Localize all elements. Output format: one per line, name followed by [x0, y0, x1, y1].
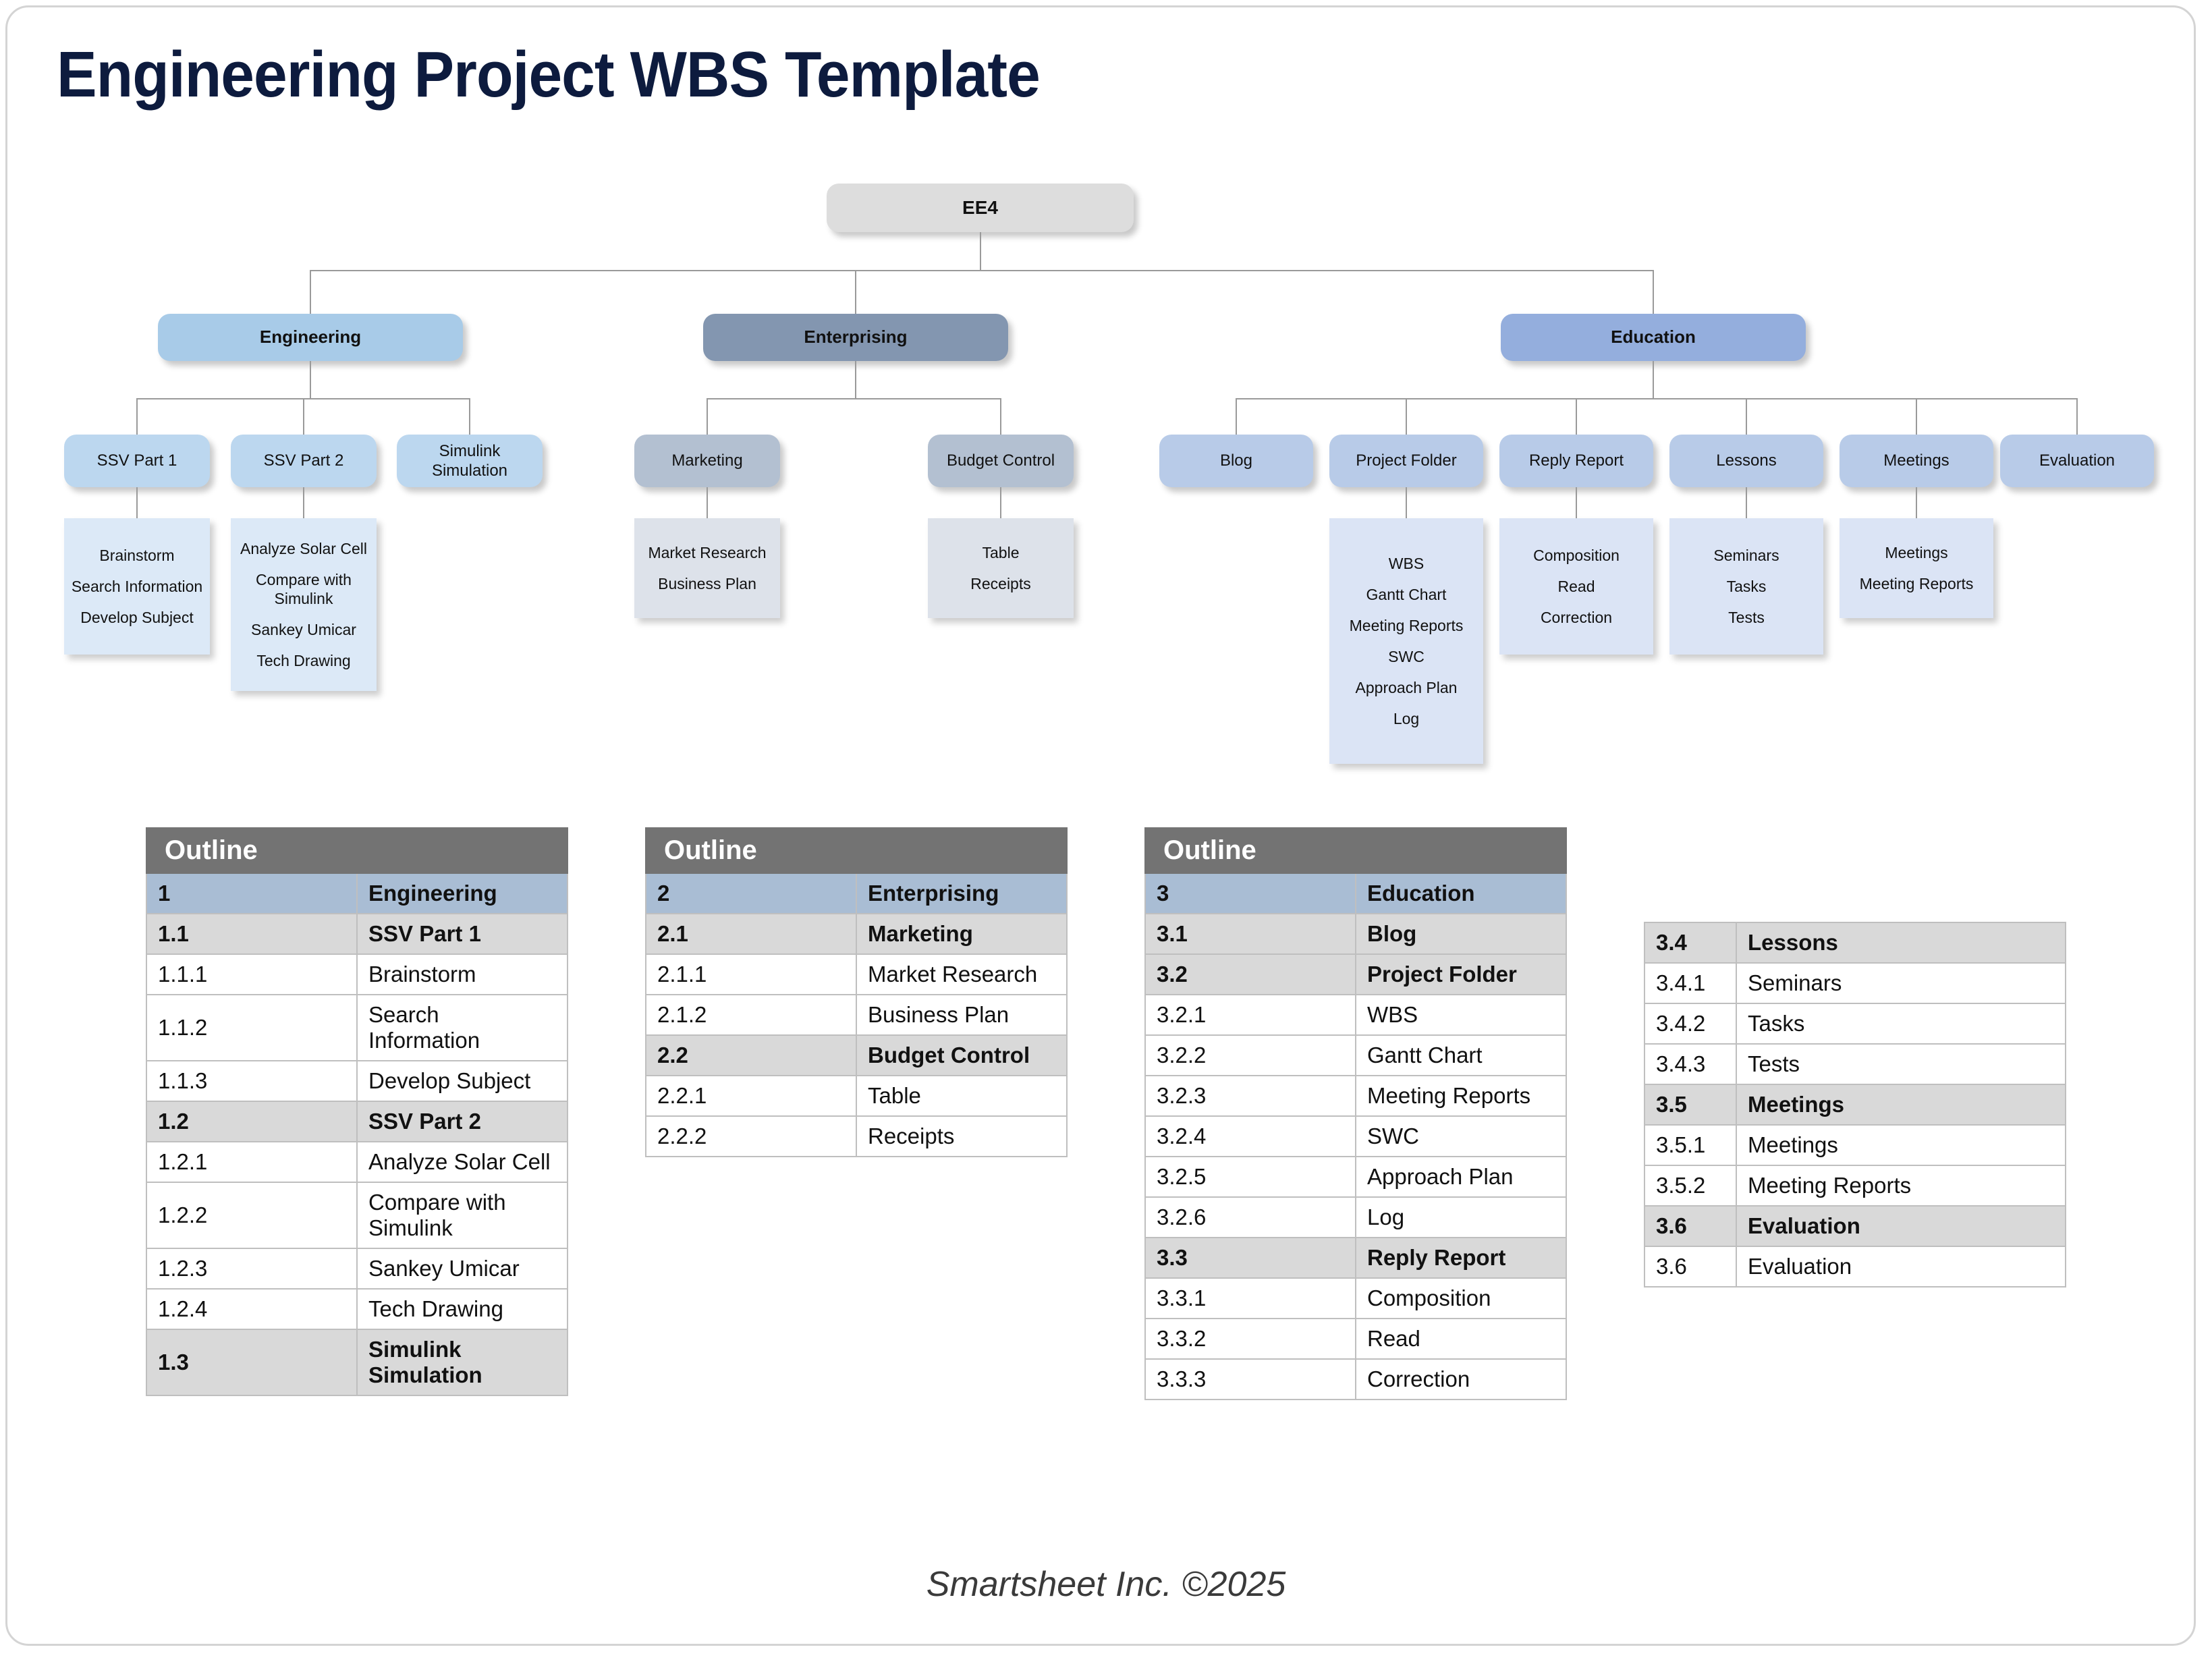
connector-line: [136, 398, 138, 435]
row-number: 2.1.2: [646, 995, 856, 1035]
outline-table-1: Outline1Engineering1.1SSV Part 11.1.1Bra…: [146, 827, 568, 1396]
row-number: 3: [1145, 873, 1356, 914]
node-branch-engineering[interactable]: Engineering: [158, 314, 463, 361]
row-label: Seminars: [1736, 963, 2066, 1003]
row-number: 2.2.1: [646, 1076, 856, 1116]
table-row[interactable]: 1.2.1Analyze Solar Cell: [146, 1142, 568, 1182]
node-root-ee4[interactable]: EE4: [827, 184, 1134, 232]
row-label: Education: [1356, 873, 1566, 914]
row-number: 1.1.1: [146, 954, 357, 995]
row-label: WBS: [1356, 995, 1566, 1035]
row-label: Sankey Umicar: [357, 1248, 568, 1289]
node-label: Education: [1611, 327, 1696, 348]
row-number: 3.5: [1644, 1084, 1736, 1125]
row-number: 1: [146, 873, 357, 914]
connector-line: [1576, 398, 1577, 435]
row-label: Blog: [1356, 914, 1566, 954]
row-number: 1.2.3: [146, 1248, 357, 1289]
leaf-item: Meetings: [1844, 543, 1989, 562]
node-eng-ssv-part-2[interactable]: SSV Part 2: [231, 435, 377, 487]
table-row[interactable]: 3.4Lessons: [1644, 922, 2066, 963]
table-row[interactable]: 3.2.1WBS: [1145, 995, 1566, 1035]
row-number: 2.1: [646, 914, 856, 954]
leaf-item: Market Research: [638, 543, 776, 562]
connector-line: [310, 270, 1654, 271]
row-number: 3.5.1: [1644, 1125, 1736, 1165]
leaf-item: Meeting Reports: [1844, 574, 1989, 593]
table-row[interactable]: 2.2.2Receipts: [646, 1116, 1067, 1157]
table-row[interactable]: 3.6Evaluation: [1644, 1246, 2066, 1287]
table-row[interactable]: 3.2.2Gantt Chart: [1145, 1035, 1566, 1076]
leaf-item: Sankey Umicar: [235, 620, 372, 639]
node-label: Lessons: [1716, 451, 1776, 470]
table-row[interactable]: 3Education: [1145, 873, 1566, 914]
leaf-item: Business Plan: [638, 574, 776, 593]
table-row[interactable]: 3.4.2Tasks: [1644, 1003, 2066, 1044]
row-label: Approach Plan: [1356, 1157, 1566, 1197]
row-label: Tasks: [1736, 1003, 2066, 1044]
row-label: Lessons: [1736, 922, 2066, 963]
table-row[interactable]: 2.1.2Business Plan: [646, 995, 1067, 1035]
table-row[interactable]: 1.1.3Develop Subject: [146, 1061, 568, 1101]
table-row[interactable]: 2.2.1Table: [646, 1076, 1067, 1116]
row-label: Log: [1356, 1197, 1566, 1238]
table-row[interactable]: 1.2.2Compare with Simulink: [146, 1182, 568, 1248]
leafbox-reply-report[interactable]: CompositionReadCorrection: [1499, 518, 1653, 655]
leaf-item: Receipts: [932, 574, 1070, 593]
connector-line: [310, 361, 311, 398]
table-row[interactable]: 3.5.2Meeting Reports: [1644, 1165, 2066, 1206]
row-number: 3.4.1: [1644, 963, 1736, 1003]
row-number: 1.3: [146, 1329, 357, 1395]
node-label: Blog: [1220, 451, 1252, 470]
table-row[interactable]: 1.1.2Search Information: [146, 995, 568, 1061]
node-label: SSV Part 2: [264, 451, 344, 470]
leaf-item: Search Information: [68, 577, 206, 596]
row-label: Budget Control: [856, 1035, 1067, 1076]
row-number: 3.6: [1644, 1246, 1736, 1287]
node-ent-marketing[interactable]: Marketing: [634, 435, 780, 487]
row-number: 1.1.2: [146, 995, 357, 1061]
table-row[interactable]: 1.2SSV Part 2: [146, 1101, 568, 1142]
node-edu-meetings[interactable]: Meetings: [1840, 435, 1993, 487]
leaf-item: Log: [1333, 709, 1479, 728]
node-edu-blog[interactable]: Blog: [1159, 435, 1313, 487]
row-number: 3.3.2: [1145, 1319, 1356, 1359]
outline-table-3: Outline3Education3.1Blog3.2Project Folde…: [1144, 827, 1567, 1400]
connector-line: [855, 361, 856, 398]
node-label: Reply Report: [1529, 451, 1624, 470]
footer-copyright: Smartsheet Inc. ©2025: [0, 1564, 2212, 1605]
row-label: Develop Subject: [357, 1061, 568, 1101]
leaf-item: Tasks: [1674, 577, 1819, 596]
node-label: EE4: [962, 196, 998, 219]
row-label: Composition: [1356, 1278, 1566, 1319]
node-ent-budget-control[interactable]: Budget Control: [928, 435, 1074, 487]
table-row[interactable]: 1.2.4Tech Drawing: [146, 1289, 568, 1329]
node-branch-enterprising[interactable]: Enterprising: [703, 314, 1008, 361]
row-label: Search Information: [357, 995, 568, 1061]
row-label: Meetings: [1736, 1125, 2066, 1165]
outline-table-4: 3.4Lessons3.4.1Seminars3.4.2Tasks3.4.3Te…: [1644, 922, 2066, 1287]
row-number: 3.4.2: [1644, 1003, 1736, 1044]
connector-line: [136, 487, 138, 518]
node-edu-project-folder[interactable]: Project Folder: [1329, 435, 1483, 487]
leaf-item: Gantt Chart: [1333, 585, 1479, 604]
row-number: 1.2.2: [146, 1182, 357, 1248]
table-row[interactable]: 1.2.3Sankey Umicar: [146, 1248, 568, 1289]
outline-table-header: Outline: [646, 828, 1067, 873]
row-number: 3.4.3: [1644, 1044, 1736, 1084]
row-number: 1.2: [146, 1101, 357, 1142]
outline-table-header: Outline: [146, 828, 568, 873]
node-edu-lessons[interactable]: Lessons: [1669, 435, 1823, 487]
leaf-item: Meeting Reports: [1333, 616, 1479, 635]
connector-line: [1653, 270, 1654, 314]
leaf-item: Seminars: [1674, 546, 1819, 565]
row-number: 3.6: [1644, 1206, 1736, 1246]
leaf-item: Read: [1503, 577, 1649, 596]
table-row[interactable]: 3.5.1Meetings: [1644, 1125, 2066, 1165]
row-label: Meetings: [1736, 1084, 2066, 1125]
leafbox-meetings[interactable]: MeetingsMeeting Reports: [1840, 518, 1993, 618]
table-row[interactable]: 1Engineering: [146, 873, 568, 914]
table-row[interactable]: 3.4.3Tests: [1644, 1044, 2066, 1084]
connector-line: [1916, 487, 1917, 518]
leaf-item: Develop Subject: [68, 608, 206, 627]
row-number: 3.2.3: [1145, 1076, 1356, 1116]
connector-line: [707, 398, 1001, 399]
row-number: 3.2: [1145, 954, 1356, 995]
row-number: 1.1: [146, 914, 357, 954]
row-number: 3.2.2: [1145, 1035, 1356, 1076]
row-label: SWC: [1356, 1116, 1566, 1157]
connector-line: [469, 398, 470, 435]
connector-line: [707, 487, 708, 518]
row-label: Reply Report: [1356, 1238, 1566, 1278]
node-label: Project Folder: [1356, 451, 1456, 470]
table-row[interactable]: 2.1Marketing: [646, 914, 1067, 954]
table-row[interactable]: 2Enterprising: [646, 873, 1067, 914]
row-number: 1.2.1: [146, 1142, 357, 1182]
row-label: Tech Drawing: [357, 1289, 568, 1329]
leaf-item: WBS: [1333, 554, 1479, 573]
row-label: Read: [1356, 1319, 1566, 1359]
connector-line: [1000, 398, 1001, 435]
row-number: 3.3: [1145, 1238, 1356, 1278]
row-number: 3.5.2: [1644, 1165, 1736, 1206]
leafbox-lessons[interactable]: SeminarsTasksTests: [1669, 518, 1823, 655]
connector-line: [707, 398, 708, 435]
connector-line: [1746, 487, 1747, 518]
table-row[interactable]: 3.3.1Composition: [1145, 1278, 1566, 1319]
table-row[interactable]: 3.6Evaluation: [1644, 1206, 2066, 1246]
row-label: Meeting Reports: [1736, 1165, 2066, 1206]
row-number: 3.2.4: [1145, 1116, 1356, 1157]
row-number: 2: [646, 873, 856, 914]
table-row[interactable]: 3.5Meetings: [1644, 1084, 2066, 1125]
connector-line: [1406, 398, 1407, 435]
row-label: Project Folder: [1356, 954, 1566, 995]
row-label: Market Research: [856, 954, 1067, 995]
node-eng-simulink-simulation[interactable]: Simulink Simulation: [397, 435, 543, 487]
leafbox-ssv-part-2[interactable]: Analyze Solar CellCompare with SimulinkS…: [231, 518, 377, 691]
node-edu-reply-report[interactable]: Reply Report: [1499, 435, 1653, 487]
connector-line: [2076, 398, 2078, 435]
table-row[interactable]: 3.2Project Folder: [1145, 954, 1566, 995]
table-row[interactable]: 3.1Blog: [1145, 914, 1566, 954]
row-label: Tests: [1736, 1044, 2066, 1084]
table-row[interactable]: 3.4.1Seminars: [1644, 963, 2066, 1003]
wbs-org-chart: EE4EngineeringEnterprisingEducationSSV P…: [0, 0, 2212, 837]
connector-line: [1653, 361, 1654, 398]
leafbox-project-folder[interactable]: WBSGantt ChartMeeting ReportsSWCApproach…: [1329, 518, 1483, 764]
row-label: Evaluation: [1736, 1246, 2066, 1287]
node-label: Marketing: [671, 451, 742, 470]
table-row[interactable]: 3.2.3Meeting Reports: [1145, 1076, 1566, 1116]
connector-line: [1406, 487, 1407, 518]
row-label: Meeting Reports: [1356, 1076, 1566, 1116]
connector-line: [1000, 487, 1001, 518]
row-number: 1.2.4: [146, 1289, 357, 1329]
row-label: Receipts: [856, 1116, 1067, 1157]
wbs-template-page: Engineering Project WBS Template EE4Engi…: [0, 0, 2212, 1662]
row-number: 3.2.5: [1145, 1157, 1356, 1197]
node-label: Engineering: [260, 327, 361, 348]
row-number: 2.1.1: [646, 954, 856, 995]
leaf-item: Tech Drawing: [235, 651, 372, 670]
leafbox-ssv-part-1[interactable]: BrainstormSearch InformationDevelop Subj…: [64, 518, 210, 655]
row-label: Table: [856, 1076, 1067, 1116]
row-number: 3.4: [1644, 922, 1736, 963]
outline-table-2: Outline2Enterprising2.1Marketing2.1.1Mar…: [645, 827, 1068, 1157]
table-row[interactable]: 3.2.6Log: [1145, 1197, 1566, 1238]
connector-line: [1576, 487, 1577, 518]
row-label: Correction: [1356, 1359, 1566, 1400]
connector-line: [1236, 398, 2078, 399]
row-label: SSV Part 2: [357, 1101, 568, 1142]
row-label: Marketing: [856, 914, 1067, 954]
table-row[interactable]: 3.2.5Approach Plan: [1145, 1157, 1566, 1197]
connector-line: [855, 270, 856, 314]
leaf-item: Approach Plan: [1333, 678, 1479, 697]
table-row[interactable]: 3.3.2Read: [1145, 1319, 1566, 1359]
connector-line: [303, 487, 304, 518]
connector-line: [1236, 398, 1237, 435]
node-label: Meetings: [1883, 451, 1949, 470]
table-row[interactable]: 2.1.1Market Research: [646, 954, 1067, 995]
node-label: SSV Part 1: [97, 451, 177, 470]
outline-table-header: Outline: [1145, 828, 1566, 873]
leaf-item: Tests: [1674, 608, 1819, 627]
leaf-item: Composition: [1503, 546, 1649, 565]
node-eng-ssv-part-1[interactable]: SSV Part 1: [64, 435, 210, 487]
node-label: Simulink Simulation: [402, 441, 537, 481]
connector-line: [980, 232, 981, 270]
table-row[interactable]: 2.2Budget Control: [646, 1035, 1067, 1076]
table-row[interactable]: 1.1.1Brainstorm: [146, 954, 568, 995]
table-row[interactable]: 3.3Reply Report: [1145, 1238, 1566, 1278]
table-row[interactable]: 1.1SSV Part 1: [146, 914, 568, 954]
table-row[interactable]: 3.2.4SWC: [1145, 1116, 1566, 1157]
row-number: 2.2: [646, 1035, 856, 1076]
leaf-item: Brainstorm: [68, 546, 206, 565]
row-label: SSV Part 1: [357, 914, 568, 954]
node-label: Budget Control: [947, 451, 1055, 470]
row-number: 3.3.3: [1145, 1359, 1356, 1400]
table-row[interactable]: 3.3.3Correction: [1145, 1359, 1566, 1400]
row-label: Engineering: [357, 873, 568, 914]
row-number: 3.2.1: [1145, 995, 1356, 1035]
node-branch-education[interactable]: Education: [1501, 314, 1806, 361]
node-label: Evaluation: [2039, 451, 2115, 470]
node-label: Enterprising: [804, 327, 907, 348]
connector-line: [303, 398, 304, 435]
node-edu-evaluation[interactable]: Evaluation: [2000, 435, 2154, 487]
row-label: Compare with Simulink: [357, 1182, 568, 1248]
row-number: 3.3.1: [1145, 1278, 1356, 1319]
leaf-item: Analyze Solar Cell: [235, 539, 372, 558]
row-label: Analyze Solar Cell: [357, 1142, 568, 1182]
leafbox-marketing[interactable]: Market ResearchBusiness Plan: [634, 518, 780, 618]
connector-line: [1746, 398, 1747, 435]
connector-line: [310, 270, 311, 314]
leafbox-budget-control[interactable]: TableReceipts: [928, 518, 1074, 618]
row-number: 3.1: [1145, 914, 1356, 954]
row-number: 2.2.2: [646, 1116, 856, 1157]
row-label: Evaluation: [1736, 1206, 2066, 1246]
row-label: Business Plan: [856, 995, 1067, 1035]
row-label: Brainstorm: [357, 954, 568, 995]
table-row[interactable]: 1.3Simulink Simulation: [146, 1329, 568, 1395]
leaf-item: SWC: [1333, 647, 1479, 666]
connector-line: [1916, 398, 1917, 435]
row-label: Enterprising: [856, 873, 1067, 914]
row-number: 3.2.6: [1145, 1197, 1356, 1238]
row-label: Simulink Simulation: [357, 1329, 568, 1395]
leaf-item: Correction: [1503, 608, 1649, 627]
row-label: Gantt Chart: [1356, 1035, 1566, 1076]
leaf-item: Compare with Simulink: [235, 570, 372, 608]
row-number: 1.1.3: [146, 1061, 357, 1101]
leaf-item: Table: [932, 543, 1070, 562]
